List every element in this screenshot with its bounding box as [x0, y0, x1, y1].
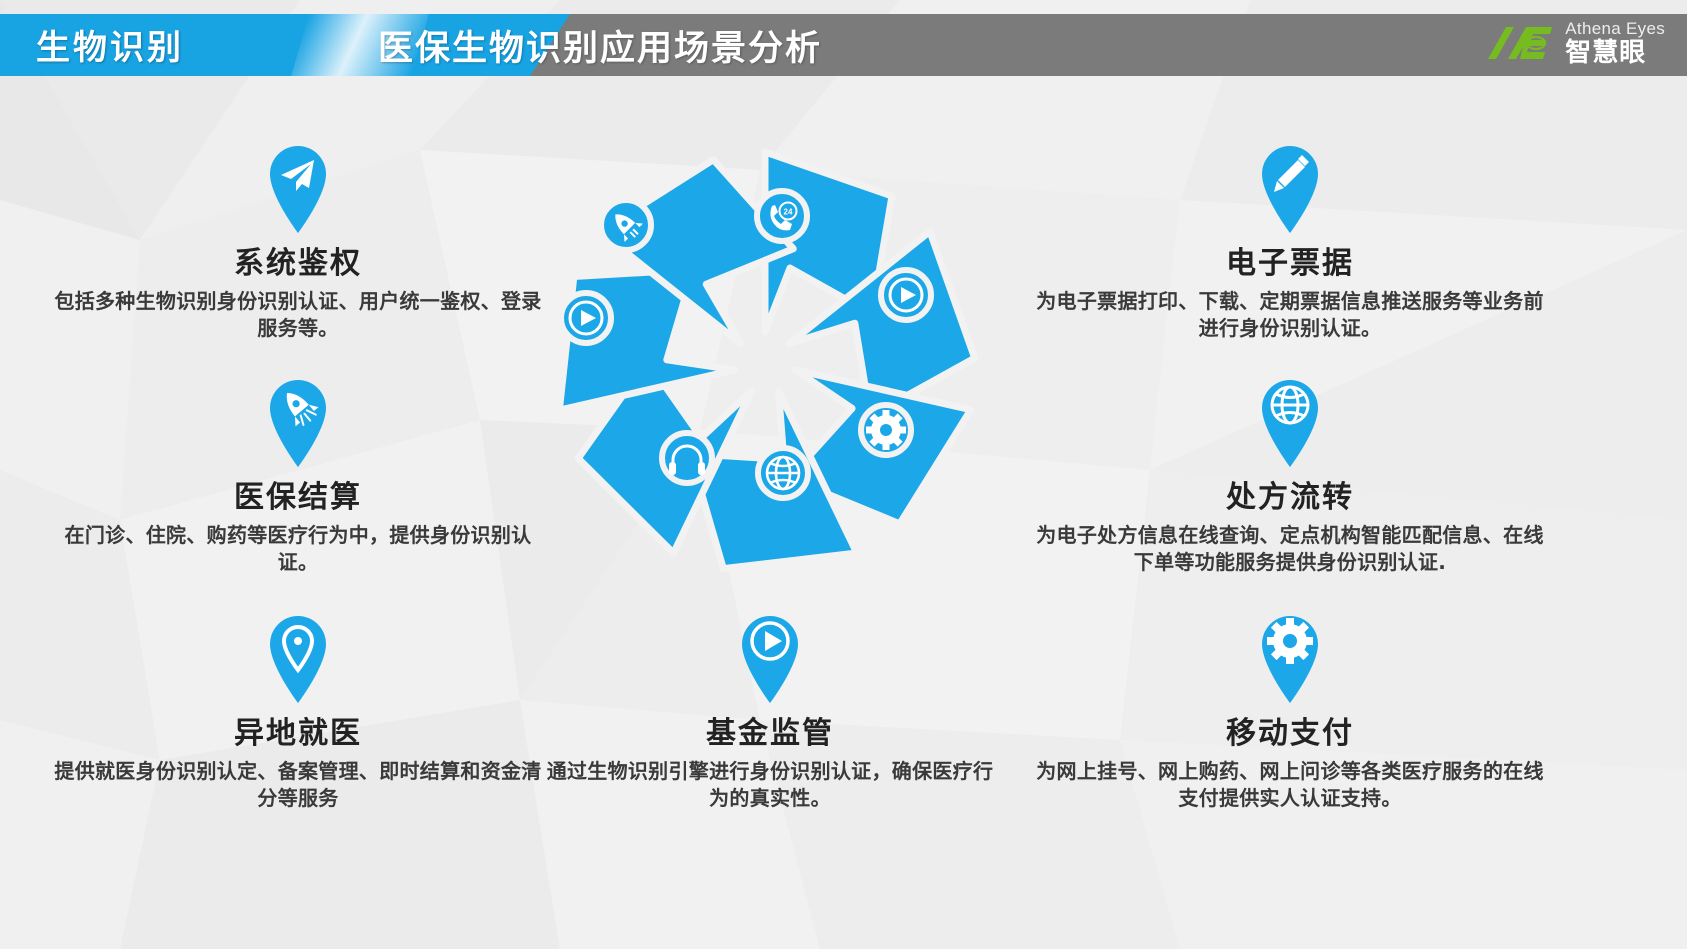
card-description: 在门诊、住院、购药等医疗行为中，提供身份识别认证。 [48, 522, 548, 576]
wheel-icon-headphones [662, 433, 712, 483]
athena-eyes-logo-icon [1484, 21, 1556, 65]
card-sysauth[interactable]: 系统鉴权 包括多种生物识别身份识别认证、用户统一鉴权、登录服务等。 [48, 138, 548, 342]
logo-text-en: Athena Eyes [1565, 20, 1665, 37]
card-einvoice[interactable]: 电子票据 为电子票据打印、下载、定期票据信息推送服务等业务前进行身份识别认证。 [1030, 138, 1550, 342]
wheel-icon-gear [861, 405, 911, 455]
card-title: 医保结算 [48, 472, 548, 516]
card-title: 移动支付 [1030, 708, 1550, 752]
card-settle[interactable]: 医保结算 在门诊、住院、购药等医疗行为中，提供身份识别认证。 [48, 372, 548, 576]
wheel-icon-play-left [561, 293, 611, 343]
card-title: 异地就医 [48, 708, 548, 752]
card-fundsup[interactable]: 基金监管 通过生物识别引擎进行身份识别认证，确保医疗行为的真实性。 [540, 608, 1000, 812]
card-description: 为电子处方信息在线查询、定点机构智能匹配信息、在线下单等功能服务提供身份识别认证… [1030, 522, 1550, 576]
card-prescrip[interactable]: 处方流转 为电子处方信息在线查询、定点机构智能匹配信息、在线下单等功能服务提供身… [1030, 372, 1550, 576]
pin-wrap [1030, 138, 1550, 234]
card-description: 包括多种生物识别身份识别认证、用户统一鉴权、登录服务等。 [48, 288, 548, 342]
brand-logo: Athena Eyes 智慧眼 [1484, 20, 1665, 66]
rocket-icon [262, 372, 334, 468]
pin-wrap [48, 608, 548, 704]
globe-icon [1254, 372, 1326, 468]
wheel-icon-play-right [881, 270, 931, 320]
card-title: 系统鉴权 [48, 238, 548, 282]
svg-text:24: 24 [784, 208, 793, 217]
pin-wrap [1030, 608, 1550, 704]
pin-wrap [540, 608, 1000, 704]
slide-header: 生物识别 医保生物识别应用场景分析 Athena Eyes 智慧眼 [0, 0, 1687, 88]
section-tab-label: 生物识别 [36, 20, 184, 69]
play-icon [734, 608, 806, 704]
center-pinwheel-graphic: 24 [520, 118, 1010, 598]
paper-plane-icon [262, 138, 334, 234]
card-description: 为电子票据打印、下载、定期票据信息推送服务等业务前进行身份识别认证。 [1030, 288, 1550, 342]
card-description: 通过生物识别引擎进行身份识别认证，确保医疗行为的真实性。 [540, 758, 1000, 812]
card-remote[interactable]: 异地就医 提供就医身份识别认定、备案管理、即时结算和资金清分等服务 [48, 608, 548, 812]
logo-text-cn: 智慧眼 [1565, 40, 1665, 66]
pin-wrap [48, 372, 548, 468]
card-title: 处方流转 [1030, 472, 1550, 516]
wheel-icon-globe [758, 448, 808, 498]
card-title: 电子票据 [1030, 238, 1550, 282]
card-description: 为网上挂号、网上购药、网上问诊等各类医疗服务的在线支付提供实人认证支持。 [1030, 758, 1550, 812]
gear-icon [1254, 608, 1326, 704]
page-title: 医保生物识别应用场景分析 [378, 20, 822, 71]
wheel-icon-rocket [601, 200, 651, 250]
card-mpay[interactable]: 移动支付 为网上挂号、网上购药、网上问诊等各类医疗服务的在线支付提供实人认证支持… [1030, 608, 1550, 812]
pin-wrap [48, 138, 548, 234]
slide-root: 生物识别 医保生物识别应用场景分析 Athena Eyes 智慧眼 [0, 0, 1687, 949]
card-description: 提供就医身份识别认定、备案管理、即时结算和资金清分等服务 [48, 758, 548, 812]
location-pin-icon [262, 608, 334, 704]
pin-wrap [1030, 372, 1550, 468]
pencil-icon [1254, 138, 1326, 234]
card-title: 基金监管 [540, 708, 1000, 752]
wheel-icon-phone-24h: 24 [757, 191, 807, 241]
